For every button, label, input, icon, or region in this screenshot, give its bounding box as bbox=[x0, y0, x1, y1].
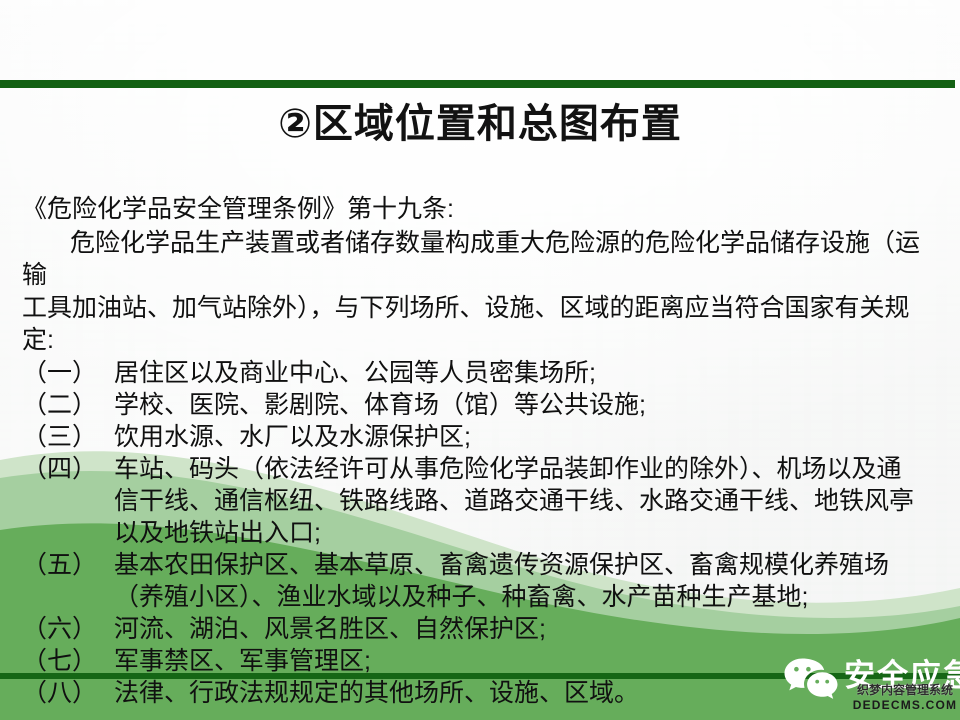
list-item: （二） 学校、医院、影剧院、体育场（馆）等公共设施; bbox=[22, 389, 940, 421]
paragraph-line-2: 工具加油站、加气站除外），与下列场所、设施、区域的距离应当符合国家有关规定: bbox=[22, 292, 940, 356]
paragraph-line-1-text: 危险化学品生产装置或者储存数量构成重大危险源的危险化学品储存设施（运输 bbox=[22, 229, 920, 289]
list-item-text: 学校、医院、影剧院、体育场（馆）等公共设施; bbox=[114, 389, 940, 421]
page-title: ②区域位置和总图布置 bbox=[0, 98, 960, 150]
paragraph-line-1: 危险化学品生产装置或者储存数量构成重大危险源的危险化学品储存设施（运输 bbox=[22, 227, 940, 291]
list-item: （五） 基本农田保护区、基本草原、畜禽遗传资源保护区、畜禽规模化养殖场 bbox=[22, 549, 940, 581]
list-item: （一） 居住区以及商业中心、公园等人员密集场所; bbox=[22, 357, 940, 389]
list-item-continuation: （养殖小区）、渔业水域以及种子、种畜禽、水产苗种生产基地; bbox=[22, 581, 940, 613]
list-item-text: 车站、码头（依法经许可从事危险化学品装卸作业的除外）、机场以及通 bbox=[114, 453, 940, 485]
list-item-number: （二） bbox=[22, 389, 114, 421]
list-item-text: 饮用水源、水厂以及水源保护区; bbox=[114, 421, 940, 453]
regulation-citation: 《危险化学品安全管理条例》第十九条: bbox=[22, 193, 940, 225]
list-item: （四） 车站、码头（依法经许可从事危险化学品装卸作业的除外）、机场以及通 bbox=[22, 453, 940, 485]
list-item-number: （六） bbox=[22, 613, 114, 645]
list-item-number: （三） bbox=[22, 421, 114, 453]
list-item-text: 居住区以及商业中心、公园等人员密集场所; bbox=[114, 357, 940, 389]
list-item-number: （一） bbox=[22, 357, 114, 389]
watermark-cn-text: 织梦内容管理系统 bbox=[851, 684, 959, 696]
list-item: （三） 饮用水源、水厂以及水源保护区; bbox=[22, 421, 940, 453]
list-item-continuation: 以及地铁站出入口; bbox=[22, 517, 940, 549]
list-item-number: （八） bbox=[22, 677, 114, 709]
list-item: （六） 河流、湖泊、风景名胜区、自然保护区; bbox=[22, 613, 940, 645]
list-item-continuation: 信干线、通信枢纽、铁路线路、道路交通干线、水路交通干线、地铁风亭 bbox=[22, 485, 940, 517]
watermark: 织梦内容管理系统 DEDECMS.COM bbox=[851, 684, 959, 711]
list-item-number: （五） bbox=[22, 549, 114, 581]
wechat-icon bbox=[782, 656, 838, 702]
list-item-number: （七） bbox=[22, 645, 114, 677]
slide-canvas: ②区域位置和总图布置 《危险化学品安全管理条例》第十九条: 危险化学品生产装置或… bbox=[0, 0, 960, 720]
header-divider-rule bbox=[0, 80, 955, 88]
body-content: 《危险化学品安全管理条例》第十九条: 危险化学品生产装置或者储存数量构成重大危险… bbox=[22, 193, 940, 709]
watermark-en-text: DEDECMS.COM bbox=[851, 699, 959, 711]
list-item-number: （四） bbox=[22, 453, 114, 485]
list-item-text: 基本农田保护区、基本草原、畜禽遗传资源保护区、畜禽规模化养殖场 bbox=[114, 549, 940, 581]
list-item-text: 河流、湖泊、风景名胜区、自然保护区; bbox=[114, 613, 940, 645]
